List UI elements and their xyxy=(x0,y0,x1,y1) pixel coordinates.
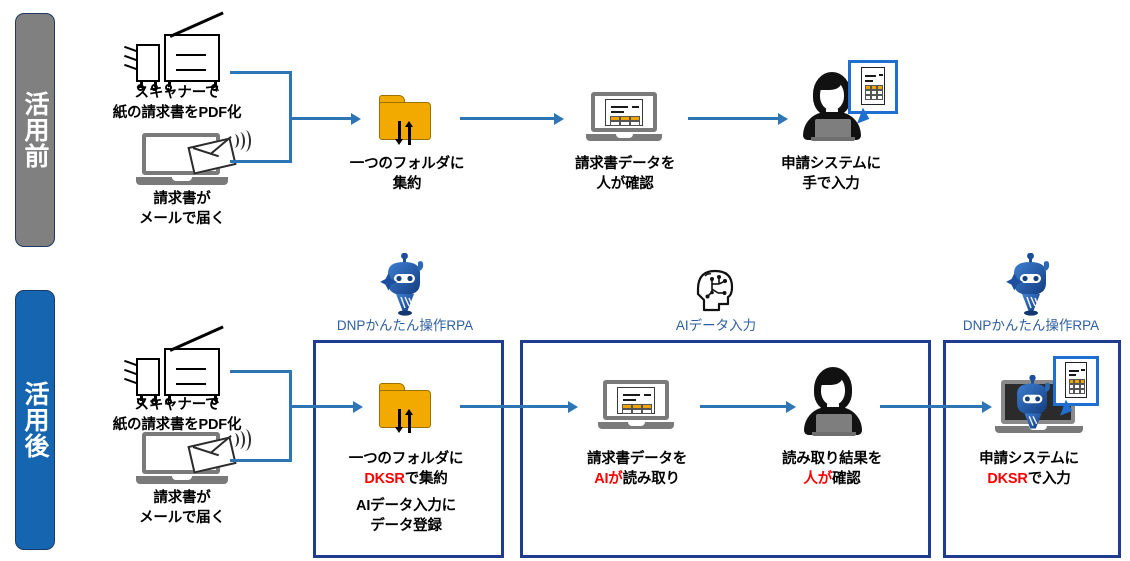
rail-before-label: 活用前 xyxy=(21,91,49,169)
folder-caption-after: 一つのフォルダに DKSRで集約 xyxy=(325,450,487,489)
person-check-line1: 読み取り結果を xyxy=(752,450,912,470)
manual-caption-line2: 手で入力 xyxy=(751,175,911,195)
connector-scanner-before xyxy=(230,71,292,74)
check-caption-line2: 人が確認 xyxy=(545,175,705,195)
folder-caption-before: 一つのフォルダに 集約 xyxy=(327,155,487,194)
folder-after-line3: AIデータ入力に xyxy=(325,497,487,517)
speech-bubble-invoice-before xyxy=(848,60,904,126)
envelope-icon xyxy=(186,134,248,174)
rpa-input-caption: 申請システムに DKSRで入力 xyxy=(949,450,1109,489)
rpa-input-line2: DKSRで入力 xyxy=(949,470,1109,490)
arrow-head-check-before xyxy=(554,113,564,125)
connector-person-to-rpa xyxy=(880,405,984,408)
arrow-head-rpa-input xyxy=(982,401,992,413)
rpa-input-line1: 申請システムに xyxy=(949,450,1109,470)
scanner-icon-after xyxy=(118,340,236,402)
arrow-head-merge-after xyxy=(353,401,363,413)
mail-caption-line2: メールで届く xyxy=(112,210,252,230)
connector-merge-before xyxy=(289,117,353,120)
rail-after-use: 活用後 xyxy=(15,290,55,550)
scanner-caption-after: スキャナーで 紙の請求書をPDF化 xyxy=(97,396,257,435)
arrow-head-person-check xyxy=(786,401,796,413)
rail-after-label: 活用後 xyxy=(21,381,49,459)
check-caption-before: 請求書データを 人が確認 xyxy=(545,155,705,194)
rpa-input-line2-red: DKSR xyxy=(987,471,1027,487)
connector-scanner-after xyxy=(230,370,292,373)
rpa-robot-icon-2 xyxy=(1000,253,1062,319)
tool-label-rpa-1: DNPかんたん操作RPA xyxy=(305,318,505,334)
person-laptop-icon-after xyxy=(796,367,868,435)
folder-caption-line1: 一つのフォルダに xyxy=(327,155,487,175)
check-caption-line1: 請求書データを xyxy=(545,155,705,175)
scanner-caption-line2: 紙の請求書をPDF化 xyxy=(97,104,257,124)
ai-read-line2-rest: 読み取り xyxy=(623,471,680,487)
ai-head-icon xyxy=(688,262,744,318)
ai-read-line1: 請求書データを xyxy=(557,450,717,470)
folder-caption-after-sub: AIデータ入力に データ登録 xyxy=(325,497,487,536)
laptop-mail-caption-before: 請求書が メールで届く xyxy=(112,190,252,229)
ai-read-line2-red: AIが xyxy=(594,471,622,487)
folder-after-line2-rest: で集約 xyxy=(405,471,448,487)
connector-folder-to-check-before xyxy=(460,117,556,120)
connector-bracket-after xyxy=(289,370,292,462)
mail-after-line2: メールで届く xyxy=(112,509,252,529)
connector-check-to-input-before xyxy=(688,117,780,120)
folder-caption-line2: 集約 xyxy=(327,175,487,195)
ai-read-line2: AIが読み取り xyxy=(557,470,717,490)
rpa-robot-icon-1 xyxy=(374,253,436,319)
connector-mail-after xyxy=(230,459,292,462)
scanner-icon xyxy=(118,26,236,88)
person-check-line2-rest: 確認 xyxy=(832,471,861,487)
envelope-icon-after xyxy=(186,433,248,473)
folder-icon-after xyxy=(379,383,435,431)
invoice-doc xyxy=(605,99,643,126)
connector-mail-before xyxy=(230,160,292,163)
rail-before-use: 活用前 xyxy=(15,13,55,247)
connector-ai-to-person xyxy=(700,405,788,408)
rpa-input-line2-rest: で入力 xyxy=(1028,471,1071,487)
laptop-invoice-icon-after xyxy=(598,380,676,432)
bubble-document xyxy=(861,67,885,105)
tool-label-ai: AIデータ入力 xyxy=(646,318,786,334)
folder-after-line1: 一つのフォルダに xyxy=(325,450,487,470)
arrow-head-ai-read xyxy=(568,401,578,413)
manual-caption-line1: 申請システムに xyxy=(751,155,911,175)
mail-after-line1: 請求書が xyxy=(112,489,252,509)
folder-icon-before xyxy=(379,95,435,143)
laptop-invoice-icon-before xyxy=(586,92,664,144)
folder-after-line2-red: DKSR xyxy=(364,471,404,487)
manual-input-caption-before: 申請システムに 手で入力 xyxy=(751,155,911,194)
folder-after-line2: DKSRで集約 xyxy=(325,470,487,490)
bubble-document-after xyxy=(1065,362,1087,398)
arrow-head-input-before xyxy=(778,113,788,125)
ai-read-caption: 請求書データを AIが読み取り xyxy=(557,450,717,489)
scanner-caption-before: スキャナーで 紙の請求書をPDF化 xyxy=(97,84,257,123)
person-check-line2: 人が確認 xyxy=(752,470,912,490)
phase-box-ai xyxy=(520,340,931,558)
connector-merge-after xyxy=(289,405,355,408)
tool-label-rpa-2: DNPかんたん操作RPA xyxy=(931,318,1130,334)
arrow-head-merge-before xyxy=(351,113,361,125)
person-check-line2-red: 人が xyxy=(803,471,832,487)
person-check-caption: 読み取り結果を 人が確認 xyxy=(752,450,912,489)
invoice-doc-after xyxy=(617,387,655,414)
connector-folder-to-ai xyxy=(460,405,570,408)
mail-caption-line1: 請求書が xyxy=(112,190,252,210)
speech-bubble-invoice-after xyxy=(1053,356,1105,418)
folder-after-line4: データ登録 xyxy=(325,517,487,537)
scanner-after-line1: スキャナーで xyxy=(97,396,257,416)
scanner-caption-line1: スキャナーで xyxy=(97,84,257,104)
laptop-mail-caption-after: 請求書が メールで届く xyxy=(112,489,252,528)
